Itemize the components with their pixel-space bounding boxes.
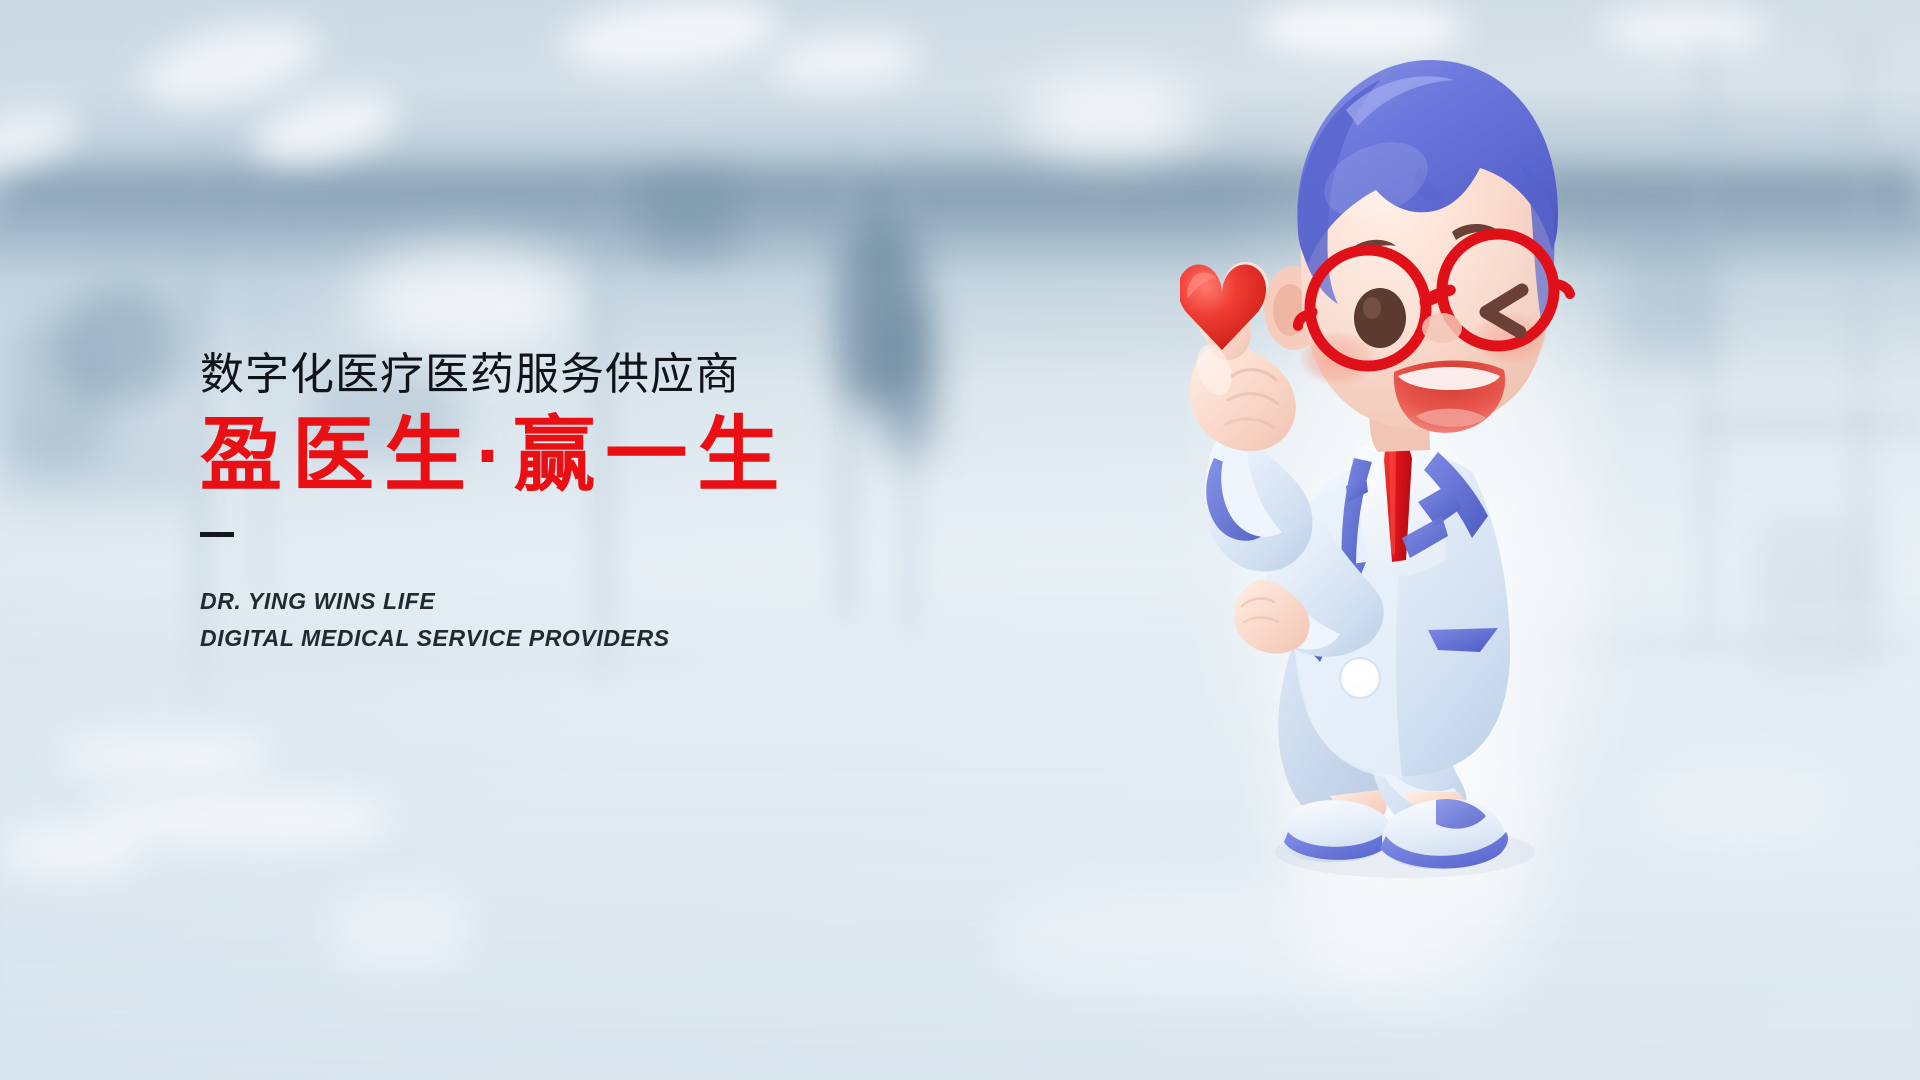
heart-icon [1180,264,1266,350]
hero-banner: 数字化医疗医药服务供应商 盈医生·赢一生 DR. YING WINS LIFE … [0,0,1920,1080]
doctor-mascot-illustration [1180,40,1610,1040]
mascot-eye-open [1354,288,1406,348]
hero-tagline-en: DR. YING WINS LIFE DIGITAL MEDICAL SERVI… [200,583,789,658]
hero-tagline-line-1: DR. YING WINS LIFE [200,583,789,620]
mascot-shoe-back [1282,800,1392,862]
mascot-nose [1422,313,1462,343]
hero-tagline-line-2: DIGITAL MEDICAL SERVICE PROVIDERS [200,620,789,657]
hero-copy-block: 数字化医疗医药服务供应商 盈医生·赢一生 DR. YING WINS LIFE … [200,350,789,658]
hero-divider-rule [200,532,234,537]
hero-title-cn: 盈医生·赢一生 [200,413,789,500]
hero-subtitle-cn: 数字化医疗医药服务供应商 [200,350,789,399]
glasses-bridge [1425,295,1442,302]
